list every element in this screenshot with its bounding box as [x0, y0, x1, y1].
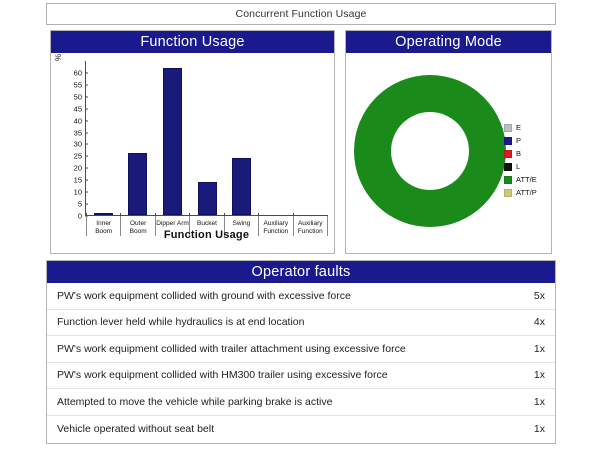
bar-chart-y-tick-label: 30 — [74, 140, 82, 149]
bar-slot[interactable] — [259, 61, 294, 215]
donut-legend-item[interactable]: ATT/E — [504, 175, 537, 184]
fault-row[interactable]: PW's work equipment collided with ground… — [47, 283, 555, 310]
bar[interactable] — [163, 68, 182, 215]
bar[interactable] — [198, 182, 217, 215]
bar-chart-x-tick-mark — [120, 213, 121, 216]
bar[interactable] — [232, 158, 251, 215]
donut-legend-item[interactable]: B — [504, 149, 537, 158]
operating-mode-panel: Operating Mode EPBLATT/EATT/P — [345, 30, 552, 254]
bar-chart-y-tick-label: 0 — [78, 212, 82, 221]
legend-swatch-icon — [504, 124, 512, 132]
function-usage-panel: Function Usage % 05101520253035404550556… — [50, 30, 335, 254]
legend-swatch-icon — [504, 189, 512, 197]
operator-faults-panel: Operator faults PW's work equipment coll… — [46, 260, 556, 444]
fault-description: Attempted to move the vehicle while park… — [57, 396, 524, 408]
bar-chart-y-tick-label: 50 — [74, 92, 82, 101]
legend-swatch-icon — [504, 150, 512, 158]
operator-faults-list: PW's work equipment collided with ground… — [47, 283, 555, 442]
bar-chart-x-tick-mark — [86, 213, 87, 216]
bar-chart-x-axis-title: Function Usage — [85, 229, 328, 241]
bar-chart-y-tick-label: 15 — [74, 176, 82, 185]
concurrent-function-usage-banner: Concurrent Function Usage — [46, 3, 556, 25]
fault-description: Vehicle operated without seat belt — [57, 423, 524, 435]
fault-count-badge: 5x — [524, 290, 545, 302]
bar-chart-y-tick-label: 45 — [74, 104, 82, 113]
bar[interactable] — [128, 153, 147, 215]
bar-chart-y-tick-label: 55 — [74, 80, 82, 89]
legend-swatch-icon — [504, 163, 512, 171]
bar[interactable] — [94, 213, 113, 215]
donut-legend-label: B — [516, 149, 521, 158]
bar-chart-y-tick-label: 60 — [74, 68, 82, 77]
fault-row[interactable]: Vehicle operated without seat belt1x — [47, 416, 555, 443]
donut-legend: EPBLATT/EATT/P — [504, 123, 537, 197]
donut-legend-item[interactable]: E — [504, 123, 537, 132]
bar-chart-y-tick-label: 10 — [74, 188, 82, 197]
donut-legend-label: P — [516, 136, 521, 145]
function-usage-barchart: % 051015202530354045505560 Inner BoomOut… — [51, 53, 334, 253]
donut-legend-item[interactable]: L — [504, 162, 537, 171]
function-usage-panel-title: Function Usage — [140, 34, 244, 50]
legend-swatch-icon — [504, 137, 512, 145]
bar-slot[interactable] — [293, 61, 328, 215]
bar-chart-y-tick-label: 40 — [74, 116, 82, 125]
fault-count-badge: 1x — [524, 343, 545, 355]
fault-description: PW's work equipment collided with ground… — [57, 290, 524, 302]
bar-chart-y-tick-label: 5 — [78, 200, 82, 209]
function-usage-panel-header: Function Usage — [51, 31, 334, 53]
fault-count-badge: 1x — [524, 369, 545, 381]
donut-legend-label: L — [516, 162, 520, 171]
donut-legend-item[interactable]: P — [504, 136, 537, 145]
fault-description: PW's work equipment collided with traile… — [57, 343, 524, 355]
bar-chart-x-tick-mark — [293, 213, 294, 216]
fault-row[interactable]: Attempted to move the vehicle while park… — [47, 389, 555, 416]
bar-slot[interactable] — [224, 61, 259, 215]
fault-description: Function lever held while hydraulics is … — [57, 316, 524, 328]
bar-chart-bars — [86, 61, 328, 215]
bar-chart-x-tick-mark — [258, 213, 259, 216]
operator-faults-header: Operator faults — [47, 261, 555, 283]
donut-legend-label: ATT/E — [516, 175, 537, 184]
fault-count-badge: 1x — [524, 396, 545, 408]
bar-slot[interactable] — [155, 61, 190, 215]
operating-mode-panel-header: Operating Mode — [346, 31, 551, 53]
operating-mode-panel-title: Operating Mode — [395, 34, 502, 50]
banner-title: Concurrent Function Usage — [236, 8, 367, 20]
bar-chart-x-tick-mark — [189, 213, 190, 216]
dashboard-page: Concurrent Function Usage Function Usage… — [0, 0, 600, 450]
bar-chart-plot-area: 051015202530354045505560 — [85, 61, 328, 216]
fault-count-badge: 4x — [524, 316, 545, 328]
donut-legend-item[interactable]: ATT/P — [504, 188, 537, 197]
bar-slot[interactable] — [121, 61, 156, 215]
legend-swatch-icon — [504, 176, 512, 184]
fault-row[interactable]: Function lever held while hydraulics is … — [47, 310, 555, 337]
fault-description: PW's work equipment collided with HM300 … — [57, 369, 524, 381]
bar-chart-y-tick-label: 35 — [74, 128, 82, 137]
bar-chart-x-tick-mark — [155, 213, 156, 216]
bar-slot[interactable] — [86, 61, 121, 215]
donut-legend-label: E — [516, 123, 521, 132]
bar-chart-y-tick-label: 20 — [74, 164, 82, 173]
donut-hole — [391, 112, 469, 190]
bar-chart-y-axis-label: % — [54, 54, 63, 61]
operator-faults-title: Operator faults — [252, 264, 351, 280]
fault-row[interactable]: PW's work equipment collided with traile… — [47, 336, 555, 363]
donut-legend-label: ATT/P — [516, 188, 537, 197]
bar-chart-y-tick-label: 25 — [74, 152, 82, 161]
operating-mode-donut-chart: EPBLATT/EATT/P — [346, 53, 551, 253]
donut-ring — [354, 75, 506, 227]
bar-slot[interactable] — [190, 61, 225, 215]
fault-count-badge: 1x — [524, 423, 545, 435]
bar-chart-x-tick-mark — [224, 213, 225, 216]
fault-row[interactable]: PW's work equipment collided with HM300 … — [47, 363, 555, 390]
